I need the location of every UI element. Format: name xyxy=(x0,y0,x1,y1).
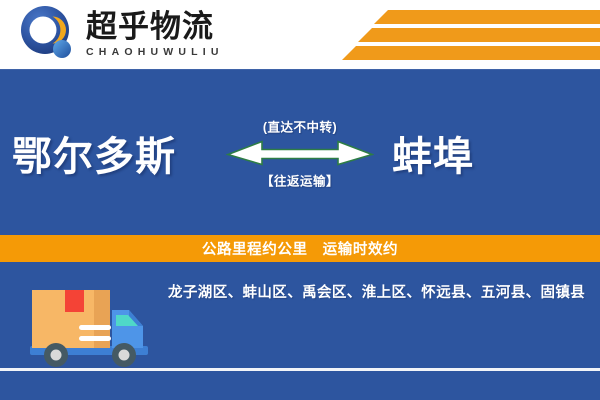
orange-slanted-stripes-icon xyxy=(310,8,600,64)
route-section: 鄂尔多斯 (直达不中转) 【往返运输】 蚌埠 xyxy=(0,70,600,235)
destination-city: 蚌埠 xyxy=(392,124,474,182)
delivery-truck-icon xyxy=(24,274,156,372)
distance-duration-bar: 公路里程约公里 运输时效约 xyxy=(0,235,600,262)
brand-wordmark: 超乎物流 CHAOHUWULIU xyxy=(86,11,224,58)
logistics-route-banner: 超乎物流 CHAOHUWULIU 鄂尔多斯 (直达不中转) 【往返运输】 蚌埠 xyxy=(0,0,600,400)
double-headed-arrow-icon xyxy=(226,137,374,167)
ground-line xyxy=(0,368,600,371)
distance-duration-text: 公路里程约公里 运输时效约 xyxy=(202,238,398,259)
direct-shipping-note: (直达不中转) xyxy=(226,116,374,135)
round-trip-note: 【往返运输】 xyxy=(226,170,374,189)
brand-name-cn: 超乎物流 xyxy=(86,11,224,44)
coverage-areas-text: 龙子湖区、蚌山区、禹会区、淮上区、怀远县、五河县、固镇县 xyxy=(168,282,586,304)
brand-name-en: CHAOHUWULIU xyxy=(86,46,224,59)
coverage-section: 龙子湖区、蚌山区、禹会区、淮上区、怀远县、五河县、固镇县 xyxy=(0,262,600,400)
route-arrow-group: (直达不中转) 【往返运输】 xyxy=(226,116,374,189)
header: 超乎物流 CHAOHUWULIU xyxy=(0,0,600,70)
q-circle-logo-icon xyxy=(18,4,80,66)
brand-logo[interactable]: 超乎物流 CHAOHUWULIU xyxy=(18,4,224,66)
origin-city: 鄂尔多斯 xyxy=(12,124,176,182)
